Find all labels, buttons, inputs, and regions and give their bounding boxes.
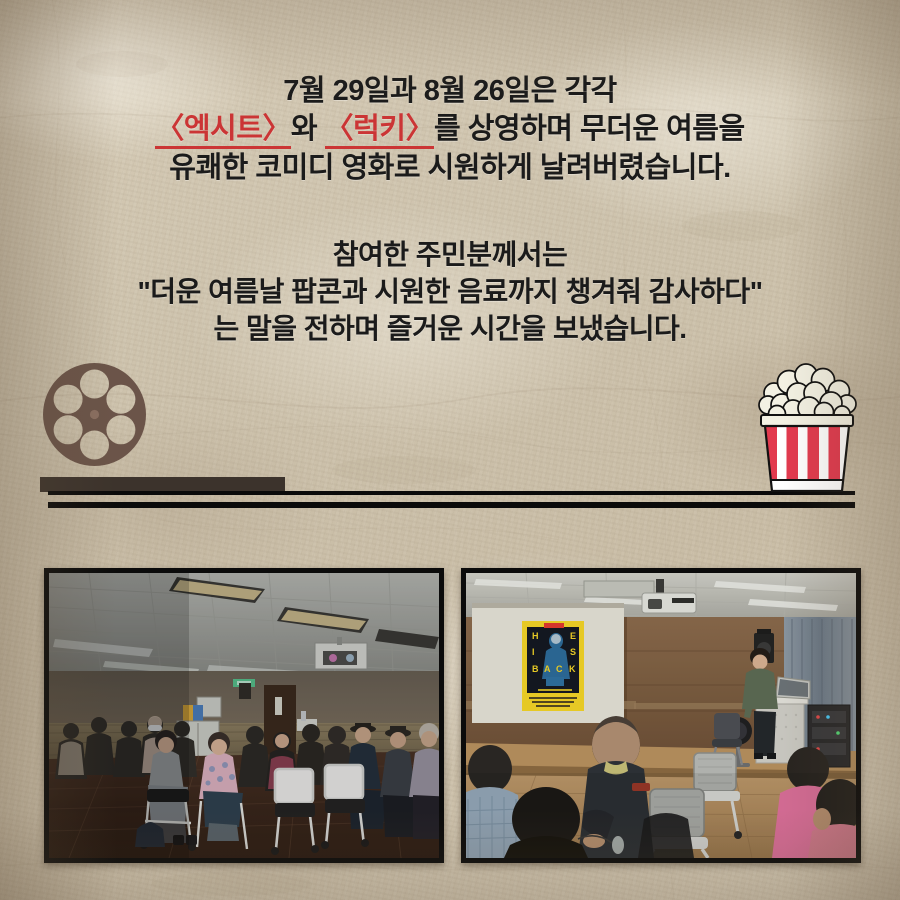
audience-seated-photo xyxy=(44,568,444,863)
popcorn-bucket-icon xyxy=(757,360,857,498)
promo-card: 7월 29일과 8월 26일은 각각 〈엑시트〉와 〈럭키〉를 상영하며 무더운… xyxy=(0,0,900,900)
para1-line2-mid: 와 xyxy=(291,113,325,145)
film-reel-shadow-bar xyxy=(40,477,285,492)
movie-title-lucky: 〈럭키〉 xyxy=(325,113,434,149)
para1-line1: 7월 29일과 8월 26일은 각각 xyxy=(0,72,900,110)
paragraph-one: 7월 29일과 8월 26일은 각각 〈엑시트〉와 〈럭키〉를 상영하며 무더운… xyxy=(0,72,900,187)
para2-line1: 참여한 주민분께서는 xyxy=(0,237,900,274)
paragraph-two: 참여한 주민분께서는 "더운 여름날 팝콘과 시원한 음료까지 챙겨줘 감사하다… xyxy=(0,237,900,348)
para2-line3: 는 말을 전하며 즐거운 시간을 보냈습니다. xyxy=(0,311,900,348)
para1-line2-after: 를 상영하며 무더운 여름을 xyxy=(434,113,745,145)
film-strip-rail-top xyxy=(48,491,855,495)
para1-line3: 유쾌한 코미디 영화로 시원하게 날려버렸습니다. xyxy=(0,149,900,187)
para2-line2: "더운 여름날 팝콘과 시원한 음료까지 챙겨줘 감사하다" xyxy=(0,274,900,311)
para1-line2: 〈엑시트〉와 〈럭키〉를 상영하며 무더운 여름을 xyxy=(0,110,900,148)
film-strip-rail-bottom xyxy=(48,502,855,508)
screening-room-presenter-photo: HE IS BA CK xyxy=(461,568,861,863)
film-reel-icon xyxy=(43,363,146,466)
movie-title-exit: 〈엑시트〉 xyxy=(155,113,291,149)
